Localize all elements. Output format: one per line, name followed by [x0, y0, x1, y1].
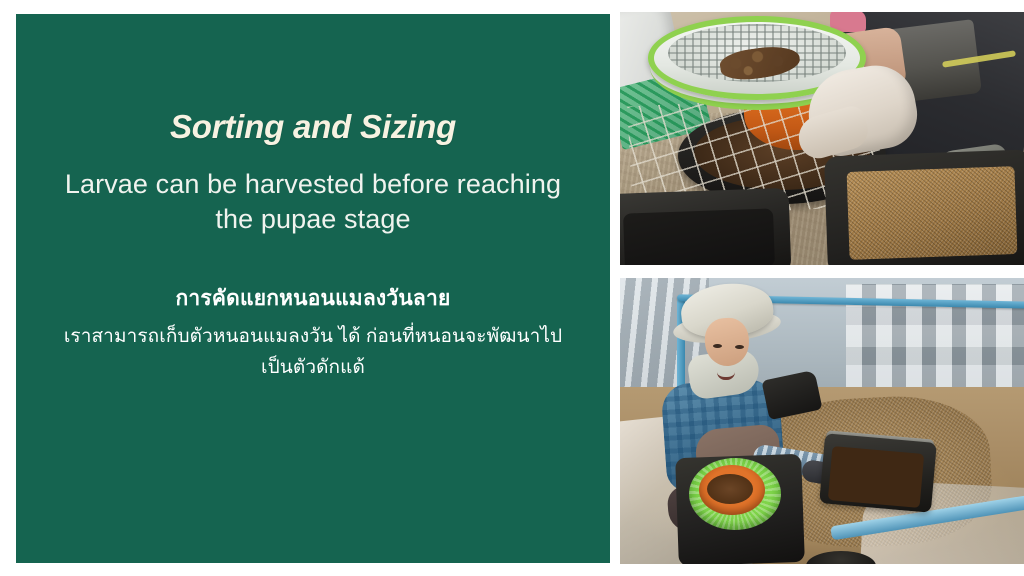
slide: Sorting and Sizing Larvae can be harvest…: [0, 0, 1024, 576]
empty-tray-interior: [623, 208, 775, 265]
subtitle-block: Larvae can be harvested before reaching …: [65, 167, 561, 237]
page-title: Sorting and Sizing: [170, 110, 456, 145]
photo-sieving-larvae: [620, 12, 1024, 265]
larvae-tray-contents: [828, 446, 924, 508]
photo-larvae-rearing-pit: [620, 278, 1024, 564]
photo-column: [620, 12, 1024, 564]
thai-body-line-1: เราสามารถเก็บตัวหนอนแมลงวัน ได้ ก่อนที่ห…: [30, 322, 596, 353]
frass-tray-contents: [847, 166, 1018, 260]
worker-eye-left: [713, 344, 722, 348]
thai-body: เราสามารถเก็บตัวหนอนแมลงวัน ได้ ก่อนที่ห…: [30, 322, 596, 384]
subtitle-line-2: the pupae stage: [65, 202, 561, 237]
text-panel: Sorting and Sizing Larvae can be harvest…: [16, 14, 610, 563]
photo-sieving-larvae-content: [620, 12, 1024, 265]
thai-heading: การคัดแยกหนอนแมลงวันลาย: [30, 283, 596, 315]
subtitle-line-1: Larvae can be harvested before reaching: [65, 167, 561, 202]
thai-body-line-2: เป็นตัวดักแด้: [30, 353, 596, 384]
orange-basket-contents: [707, 474, 753, 504]
photo-larvae-rearing-pit-content: [620, 278, 1024, 564]
thai-text-block: การคัดแยกหนอนแมลงวันลาย เราสามารถเก็บตัว…: [30, 283, 596, 384]
